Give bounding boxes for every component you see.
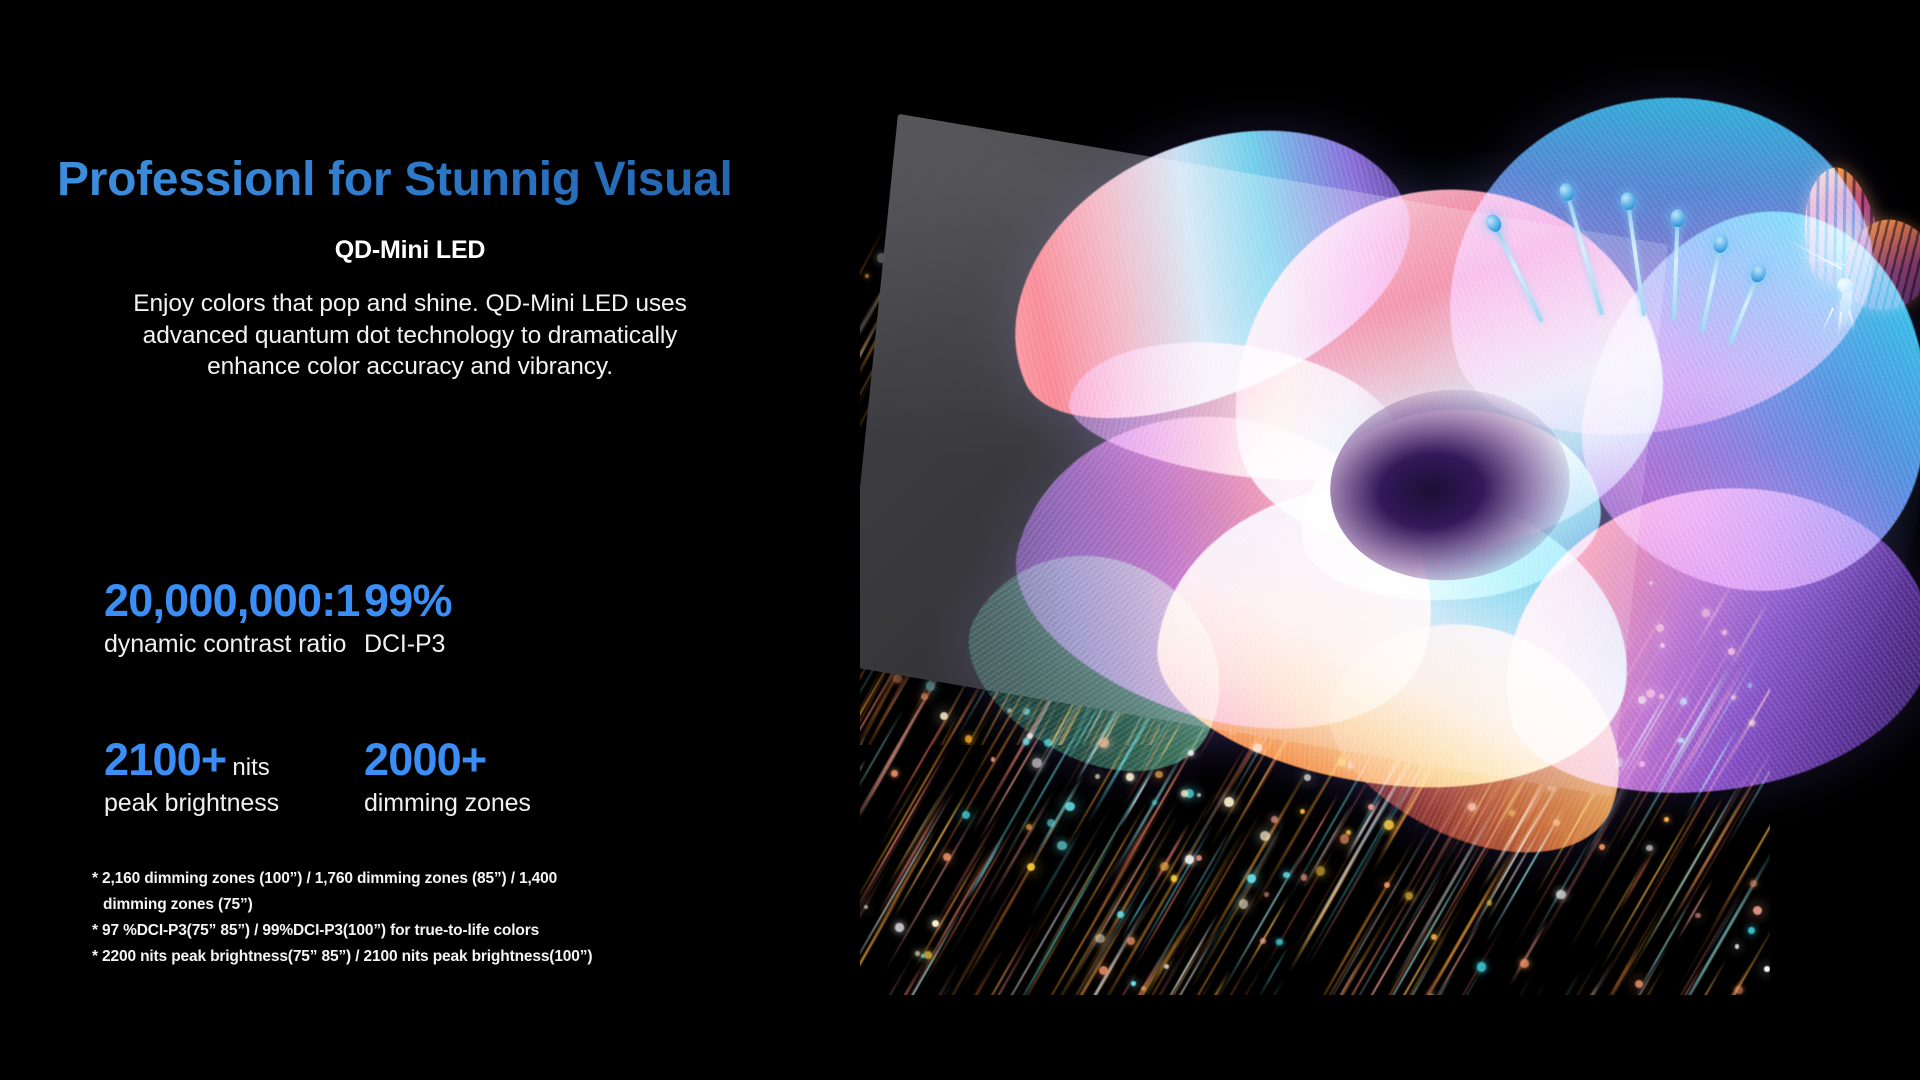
light-particle <box>1384 882 1390 888</box>
light-streak <box>860 250 861 330</box>
stat-value: 20,000,000:1 <box>104 578 364 624</box>
light-particle <box>1735 986 1743 994</box>
light-particle <box>1283 872 1290 879</box>
page-title: Professionl for Stunnig Visual <box>57 152 733 207</box>
light-particle <box>1428 994 1435 995</box>
footnote-item: * 97 %DCI-P3(75” 85”) / 99%DCI-P3(100”) … <box>92 918 592 944</box>
light-particle <box>1735 944 1740 949</box>
footnote-continuation: dimming zones (75”) <box>92 892 592 918</box>
light-particle <box>1171 875 1178 882</box>
description-paragraph: Enjoy colors that pop and shine. QD-Mini… <box>0 288 820 383</box>
flower-graphic <box>900 90 1910 830</box>
footnote-text: * 2,160 dimming zones (100”) / 1,760 dim… <box>92 870 557 887</box>
stat-value: 99% <box>364 578 764 624</box>
light-particle <box>1477 962 1487 972</box>
light-particle <box>1431 934 1437 940</box>
stat-dynamic-contrast-ratio: 20,000,000:1 dynamic contrast ratio <box>104 578 364 659</box>
stat-label: DCI-P3 <box>364 630 764 659</box>
light-particle <box>865 274 869 278</box>
light-particle <box>1340 834 1349 843</box>
footnote-text: * 2200 nits peak brightness(75” 85”) / 2… <box>92 948 592 965</box>
stat-value: 2100+nits <box>104 737 364 783</box>
stat-peak-brightness: 2100+nits peak brightness <box>104 737 364 818</box>
footnote-item: * 2200 nits peak brightness(75” 85”) / 2… <box>92 944 592 970</box>
stat-label: peak brightness <box>104 789 364 818</box>
light-particle <box>1247 874 1256 883</box>
light-particle <box>1520 959 1529 968</box>
description-line: advanced quantum dot technology to drama… <box>0 320 820 352</box>
stat-value: 2000+ <box>364 737 764 783</box>
stat-dci-p3: 99% DCI-P3 <box>364 578 764 659</box>
light-particle <box>1260 831 1270 841</box>
light-particle <box>1196 855 1202 861</box>
light-particle <box>895 923 903 931</box>
stat-dimming-zones: 2000+ dimming zones <box>364 737 764 818</box>
light-particle <box>1131 981 1136 986</box>
light-particle <box>1646 845 1652 851</box>
description-line: enhance color accuracy and vibrancy. <box>0 351 820 383</box>
light-particle <box>1764 966 1770 972</box>
light-particle <box>1487 900 1493 906</box>
stat-unit: nits <box>232 754 269 781</box>
stat-row: 2100+nits peak brightness 2000+ dimming … <box>104 737 864 818</box>
text-column: Professionl for Stunnig Visual QD-Mini L… <box>0 0 900 1080</box>
light-particle <box>1695 913 1701 919</box>
light-particle <box>1599 844 1605 850</box>
footnote-text: * 97 %DCI-P3(75” 85”) / 99%DCI-P3(100”) … <box>92 922 539 939</box>
stat-label: dimming zones <box>364 789 764 818</box>
product-visual <box>860 0 1920 1080</box>
light-particle <box>915 951 919 955</box>
light-particle <box>1301 874 1308 881</box>
light-particle <box>1750 880 1757 887</box>
light-particle <box>891 770 898 777</box>
footnotes: * 2,160 dimming zones (100”) / 1,760 dim… <box>92 866 592 970</box>
stat-label: dynamic contrast ratio <box>104 630 364 659</box>
light-particle <box>932 920 939 927</box>
light-particle <box>1095 934 1104 943</box>
light-streak <box>1435 982 1545 995</box>
subtitle: QD-Mini LED <box>0 236 820 265</box>
light-particle <box>1316 866 1325 875</box>
light-particle <box>1405 892 1413 900</box>
stat-row: 20,000,000:1 dynamic contrast ratio 99% … <box>104 578 864 659</box>
light-particle <box>864 905 868 909</box>
light-particle <box>1264 892 1269 897</box>
light-streak <box>1702 891 1745 964</box>
light-particle <box>1753 906 1762 915</box>
description-line: Enjoy colors that pop and shine. QD-Mini… <box>0 288 820 320</box>
light-particle <box>1057 841 1067 851</box>
light-streak <box>1303 903 1384 995</box>
light-particle <box>1185 855 1194 864</box>
footnote-item: * 2,160 dimming zones (100”) / 1,760 dim… <box>92 866 592 918</box>
light-particle <box>1260 938 1266 944</box>
light-particle <box>1748 927 1755 934</box>
light-particle <box>943 853 951 861</box>
light-particle <box>1276 939 1282 945</box>
spec-stats-grid: 20,000,000:1 dynamic contrast ratio 99% … <box>104 578 864 818</box>
light-particle <box>1556 890 1565 899</box>
light-particle <box>1635 980 1643 988</box>
light-particle <box>1027 863 1035 871</box>
light-particle <box>1127 937 1135 945</box>
light-particle <box>1117 911 1124 918</box>
light-particle <box>1160 862 1169 871</box>
